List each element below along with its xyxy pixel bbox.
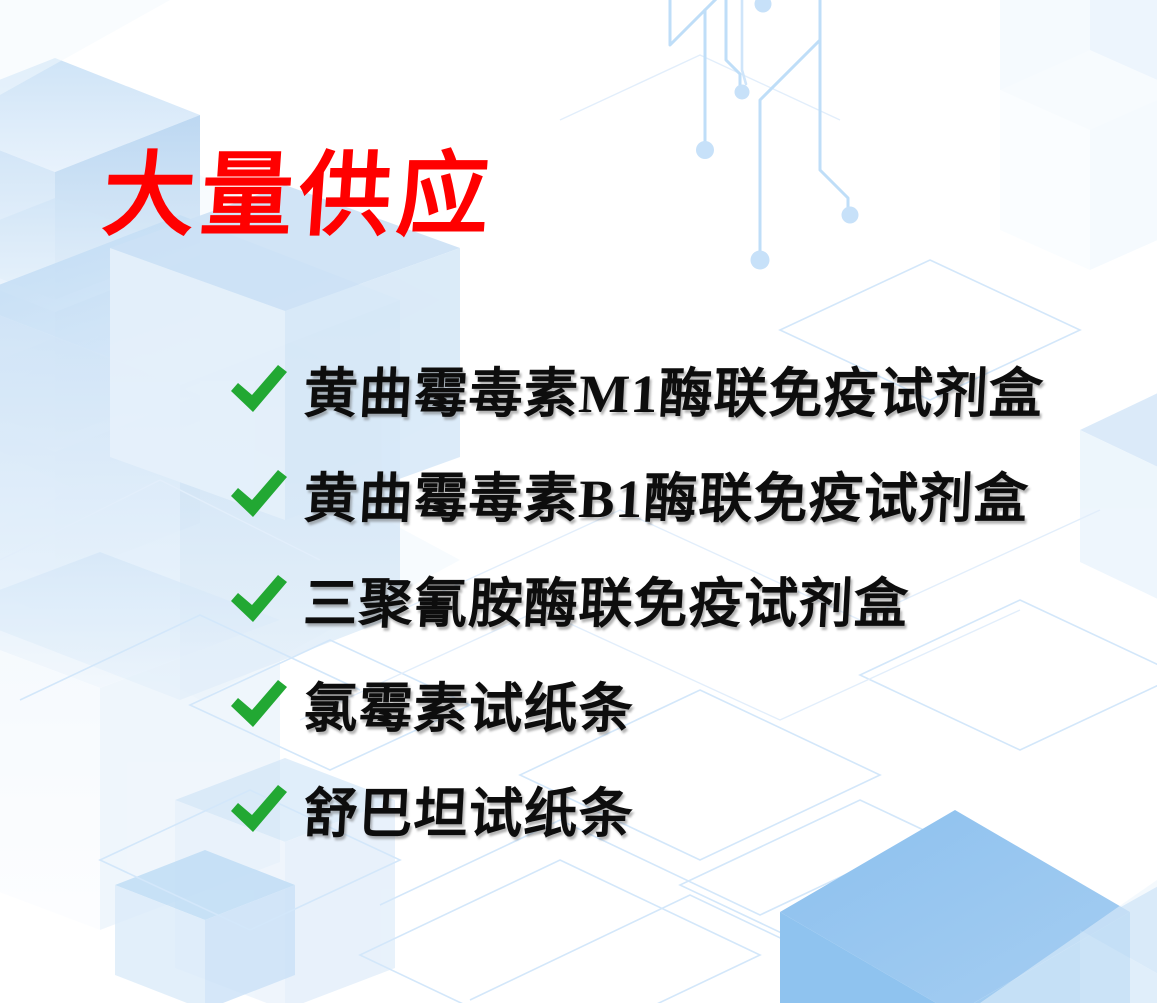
product-list: 黄曲霉毒素M1酶联免疫试剂盒 黄曲霉毒素B1酶联免疫试剂盒 三聚氰胺酶联免疫试剂… bbox=[228, 336, 1108, 861]
promotional-slide: 大量供应 黄曲霉毒素M1酶联免疫试剂盒 黄曲霉毒素B1酶联免疫试剂盒 三聚氰胺酶… bbox=[0, 0, 1157, 1003]
page-title: 大量供应 bbox=[100, 148, 499, 245]
check-icon bbox=[228, 573, 290, 625]
check-icon bbox=[228, 783, 290, 835]
list-item-label: 三聚氰胺酶联免疫试剂盒 bbox=[302, 559, 911, 638]
check-icon bbox=[228, 678, 290, 730]
slide-content: 大量供应 黄曲霉毒素M1酶联免疫试剂盒 黄曲霉毒素B1酶联免疫试剂盒 三聚氰胺酶… bbox=[0, 0, 1157, 1003]
check-icon bbox=[228, 468, 290, 520]
check-icon bbox=[228, 363, 290, 415]
list-item-label: 黄曲霉毒素M1酶联免疫试剂盒 bbox=[302, 349, 1046, 428]
list-item: 氯霉素试纸条 bbox=[228, 651, 1108, 756]
list-item: 舒巴坦试纸条 bbox=[228, 756, 1108, 861]
list-item-label: 黄曲霉毒素B1酶联免疫试剂盒 bbox=[302, 454, 1031, 533]
list-item: 黄曲霉毒素M1酶联免疫试剂盒 bbox=[228, 336, 1108, 441]
list-item-label: 氯霉素试纸条 bbox=[302, 664, 636, 743]
list-item: 三聚氰胺酶联免疫试剂盒 bbox=[228, 546, 1108, 651]
list-item: 黄曲霉毒素B1酶联免疫试剂盒 bbox=[228, 441, 1108, 546]
list-item-label: 舒巴坦试纸条 bbox=[302, 769, 636, 848]
